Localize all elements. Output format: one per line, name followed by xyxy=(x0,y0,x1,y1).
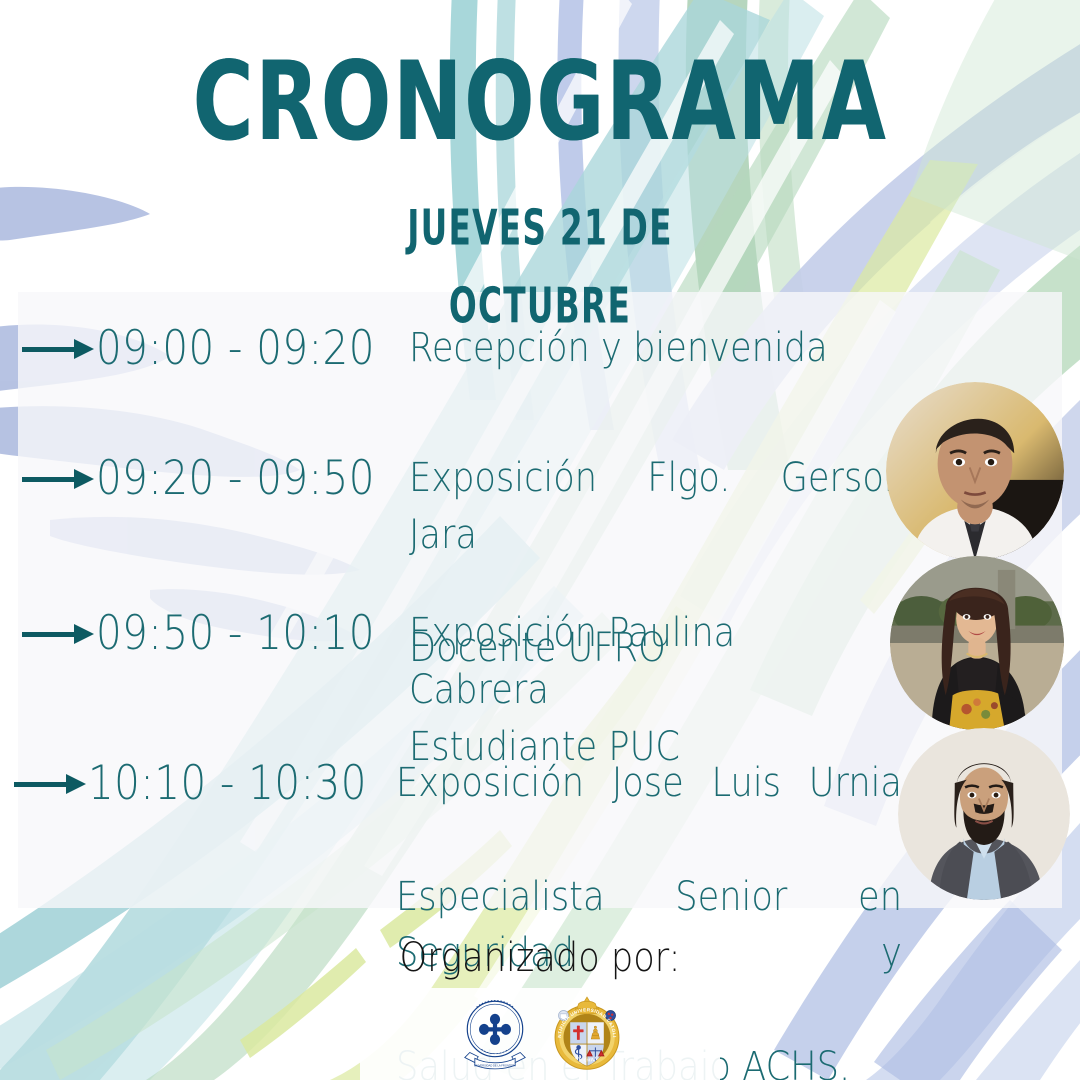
avatar xyxy=(898,728,1070,900)
schedule-time: 09:00 - 09:20 xyxy=(96,320,358,377)
title-block: CRONOGRAMA JUEVES 21 DE OCTUBRE xyxy=(0,48,1080,322)
subtitle-line-1: JUEVES 21 DE xyxy=(97,204,983,253)
schedule-time: 10:10 - 10:30 xyxy=(88,755,346,812)
schedule-time: 09:20 - 09:50 xyxy=(96,450,358,507)
logo-universidad-de-la-frontera: UNIVERSIDAD DE LA FRONTERA xyxy=(451,992,539,1076)
avatar xyxy=(886,382,1064,560)
schedule-description-line: Exposición Paulina Cabrera xyxy=(409,610,735,713)
schedule-description: Recepción y bienvenida xyxy=(409,320,831,377)
avatar xyxy=(890,556,1064,730)
right-arrow-icon xyxy=(14,769,88,799)
schedule-description-line: Exposición Jose Luis Urnia xyxy=(396,755,902,869)
schedule-time: 09:50 - 10:10 xyxy=(96,605,358,662)
schedule-description-line: Recepción y bienvenida xyxy=(409,325,828,371)
speaker-photo-paulina-cabrera xyxy=(890,556,1064,730)
logo-pontificia-universidad-catolica-de-chile: PONTIFICIA UNIVERSIDAD CATOLICA DE CHILE xyxy=(545,991,629,1077)
page-title: CRONOGRAMA xyxy=(54,48,1026,157)
schedule-row: 09:50 - 10:10 Exposición Paulina Cabrera… xyxy=(22,605,929,775)
organizer-logos: UNIVERSIDAD DE LA FRONTERA xyxy=(360,988,720,1080)
poster-canvas: CRONOGRAMA JUEVES 21 DE OCTUBRE 09:00 - … xyxy=(0,0,1080,1080)
organized-by-label: Organizado por: xyxy=(65,938,1015,978)
schedule-description-line: Exposición Flgo. Gerson Jara xyxy=(409,450,906,620)
right-arrow-icon xyxy=(22,464,96,494)
right-arrow-icon xyxy=(22,334,96,364)
svg-text:UNIVERSIDAD DE LA FRONTERA: UNIVERSIDAD DE LA FRONTERA xyxy=(474,1064,516,1068)
speaker-photo-gerson-jara xyxy=(886,382,1064,560)
right-arrow-icon xyxy=(22,619,96,649)
footer: Organizado por: xyxy=(0,938,1080,978)
schedule-description: Exposición Paulina Cabrera Estudiante PU… xyxy=(409,605,867,775)
speaker-photo-jose-luis-urnia xyxy=(898,728,1070,900)
schedule-row: 09:00 - 09:20 Recepción y bienvenida xyxy=(22,320,889,377)
